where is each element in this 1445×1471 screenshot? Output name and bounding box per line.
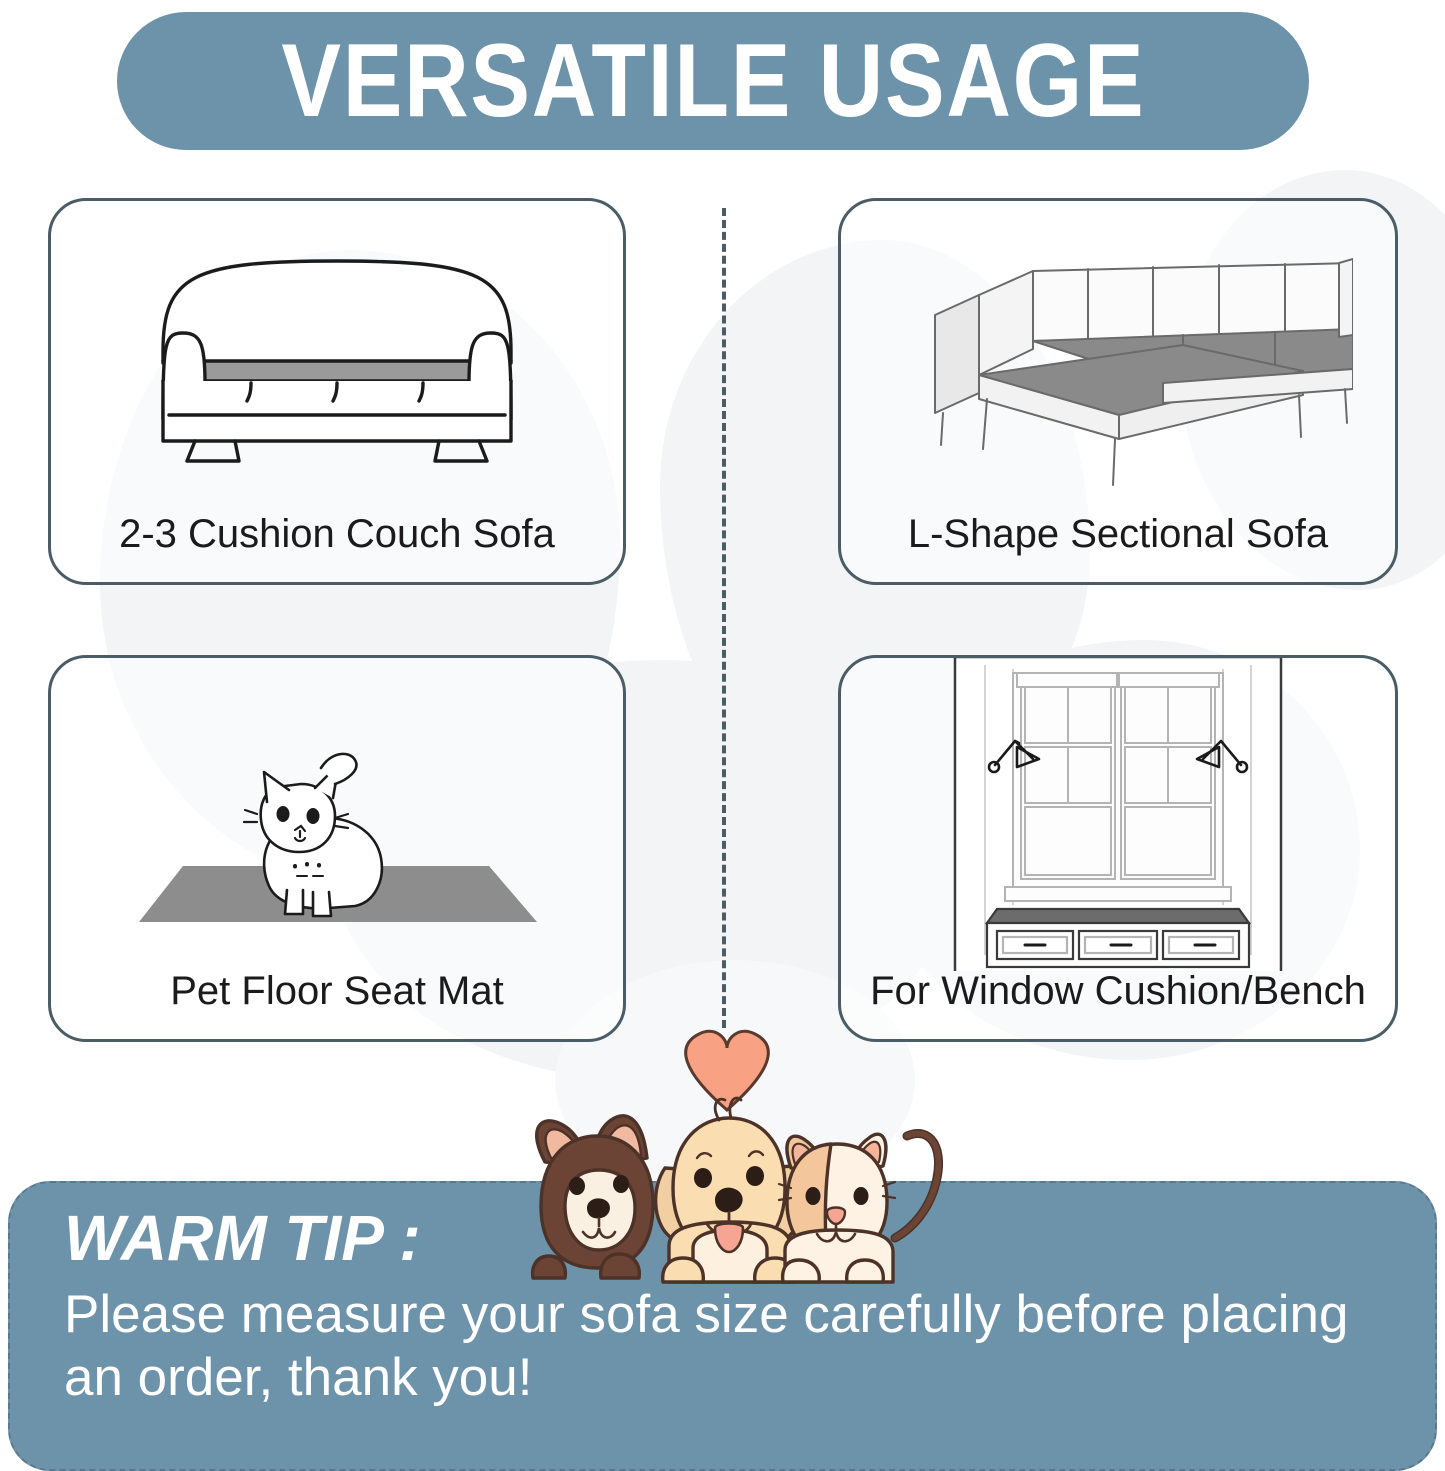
page-title-banner: VERSATILE USAGE xyxy=(117,12,1309,150)
usage-card-couch-sofa[interactable]: 2-3 Cushion Couch Sofa xyxy=(48,198,626,585)
usage-card-pet-mat[interactable]: Pet Floor Seat Mat xyxy=(48,655,626,1042)
sofa-illustration xyxy=(51,201,623,514)
page-title: VERSATILE USAGE xyxy=(281,29,1145,133)
pets-illustration xyxy=(487,1010,967,1310)
window-bench-illustration xyxy=(841,658,1395,971)
cat-on-mat-illustration xyxy=(51,658,623,971)
vertical-dashed-divider xyxy=(722,208,726,1028)
usage-card-sectional-sofa[interactable]: L-Shape Sectional Sofa xyxy=(838,198,1398,585)
usage-card-label: Pet Floor Seat Mat xyxy=(170,971,503,1039)
heart-icon xyxy=(686,1031,769,1110)
sectional-sofa-illustration xyxy=(841,201,1395,514)
usage-card-label: 2-3 Cushion Couch Sofa xyxy=(119,514,555,582)
usage-card-label: L-Shape Sectional Sofa xyxy=(908,514,1328,582)
usage-card-window-bench[interactable]: For Window Cushion/Bench xyxy=(838,655,1398,1042)
